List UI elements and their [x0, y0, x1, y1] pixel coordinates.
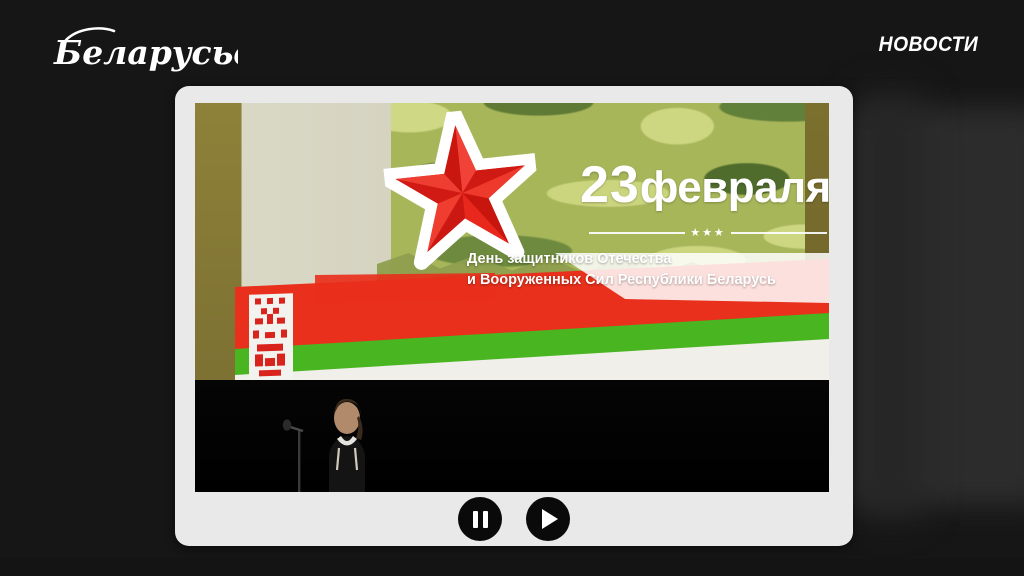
video-player-card[interactable]: 23февраля ★★★ День защитников Отечества …: [175, 86, 853, 546]
player-controls: [175, 492, 853, 546]
play-icon: [542, 509, 558, 529]
belarusfilm-script-logo-icon: Беларусьфільм: [48, 22, 238, 74]
background-bottom-band: [0, 558, 1024, 576]
slide-date-month: февраля: [640, 163, 829, 212]
slide-date-heading: 23февраля: [580, 155, 829, 215]
slide-subtitle-line-1: День защитников Отечества: [467, 249, 827, 270]
pause-button[interactable]: [458, 497, 502, 541]
speaker-person: [303, 396, 389, 492]
pause-icon: [473, 511, 488, 528]
auditorium-dark-area: [195, 380, 829, 492]
wall-strip-left: [195, 103, 241, 380]
slide-date-number: 23: [580, 156, 640, 214]
play-button[interactable]: [526, 497, 570, 541]
background-blur-panel-edge: [860, 95, 920, 515]
slide-divider: ★★★: [589, 226, 827, 240]
belarus-flag-ornament-icon: [249, 293, 293, 380]
divider-line-right: [731, 232, 827, 234]
site-logo[interactable]: Беларусьфільм: [48, 22, 238, 74]
projection-screen: 23февраля ★★★ День защитников Отечества …: [195, 103, 829, 380]
site-logo-text: Беларусьфільм: [53, 33, 238, 72]
slide-subtitle: День защитников Отечества и Вооруженных …: [467, 249, 827, 290]
slide-subtitle-line-2: и Вооруженных Сил Республики Беларусь: [467, 270, 827, 291]
video-frame[interactable]: 23февраля ★★★ День защитников Отечества …: [195, 103, 829, 492]
nav-item-news[interactable]: НОВОСТИ: [878, 33, 978, 57]
divider-line-left: [589, 232, 685, 234]
divider-stars-glyph: ★★★: [690, 228, 726, 239]
